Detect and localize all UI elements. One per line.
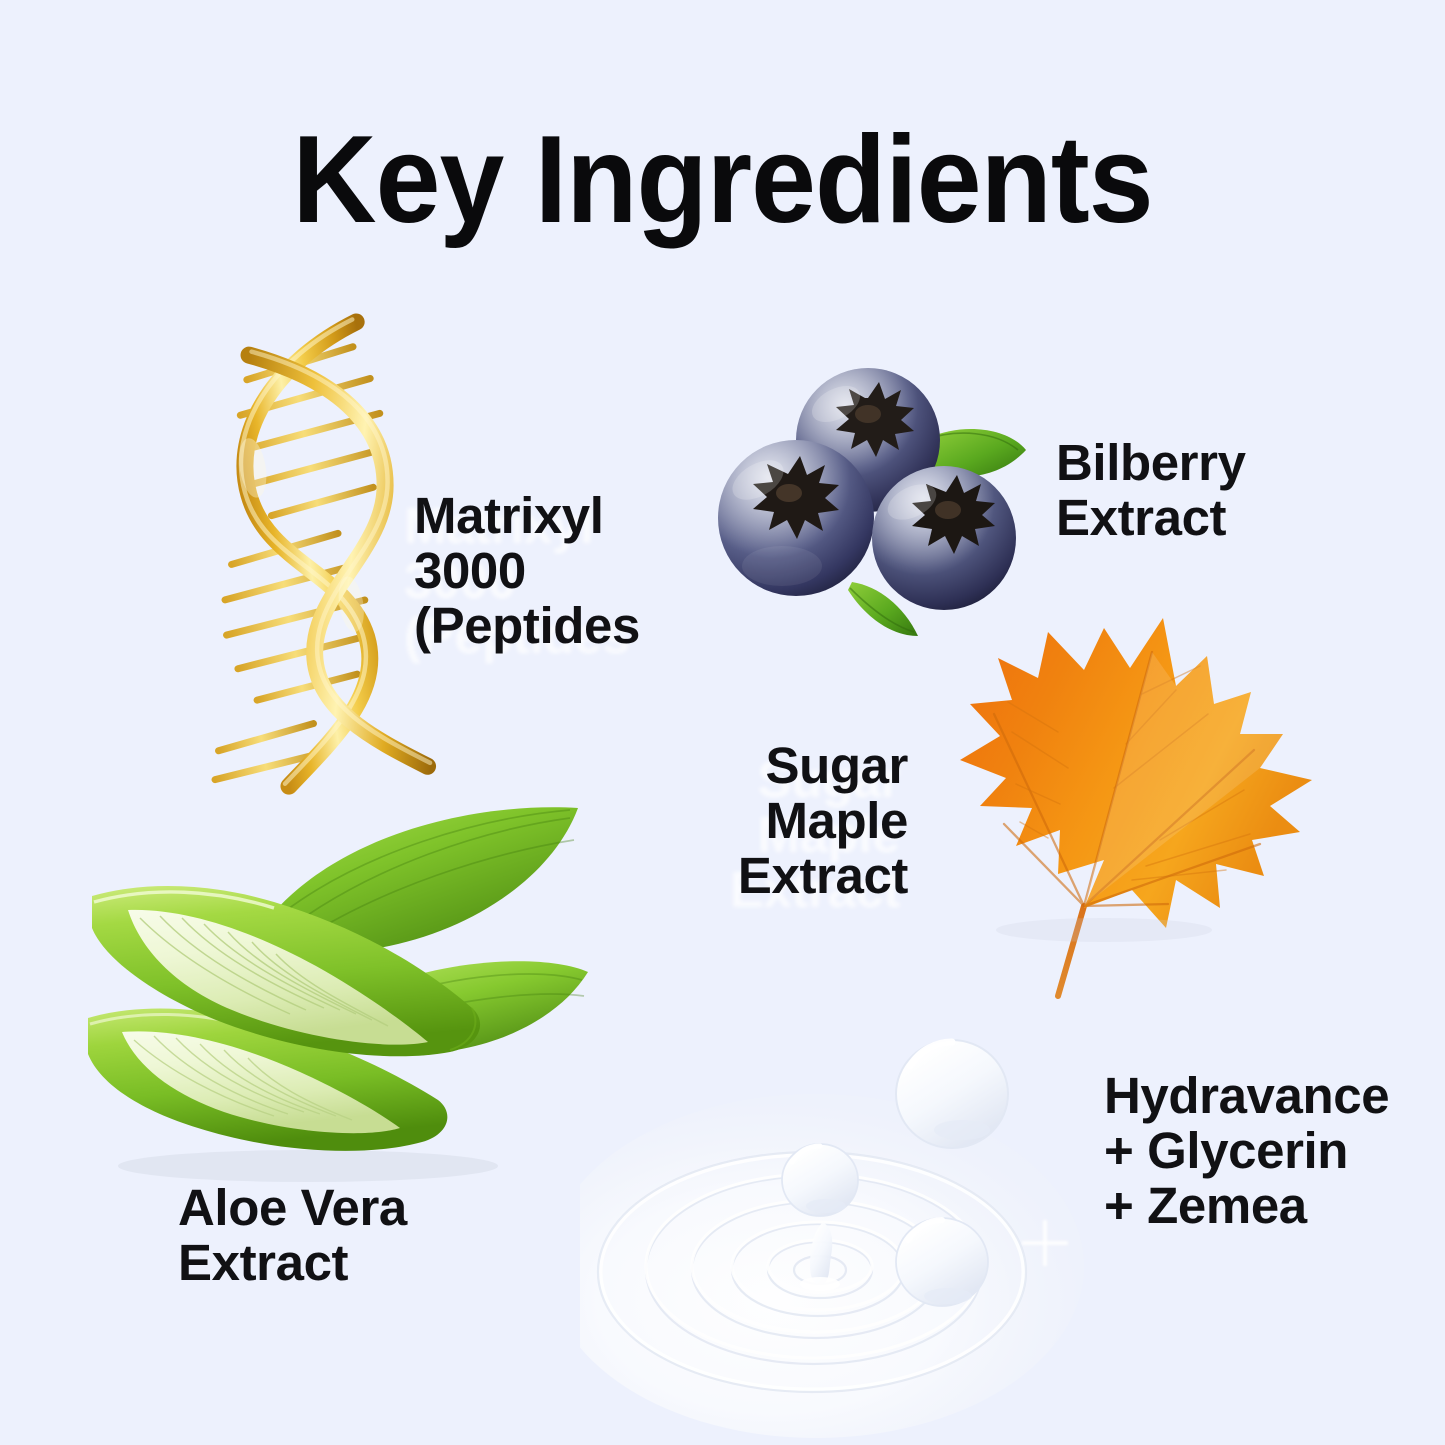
matrixyl-label: Matrixyl 3000 (Peptides: [414, 488, 640, 653]
key-ingredients-infographic: Key Ingredients: [0, 0, 1445, 1445]
hydravance-label: Hydravance + Glycerin + Zemea: [1104, 1068, 1389, 1233]
sugar-maple-label: Sugar Maple Extract: [738, 738, 908, 903]
dna-helix-icon: [148, 312, 448, 812]
maple-leaf-icon: [908, 608, 1318, 1008]
water-droplet-icon: [580, 1000, 1140, 1445]
page-title: Key Ingredients: [43, 118, 1401, 242]
aloe-vera-label: Aloe Vera Extract: [178, 1180, 407, 1290]
bilberry-label: Bilberry Extract: [1056, 435, 1246, 545]
blueberries-icon: [696, 352, 1041, 642]
aloe-vera-icon: [78, 792, 588, 1192]
